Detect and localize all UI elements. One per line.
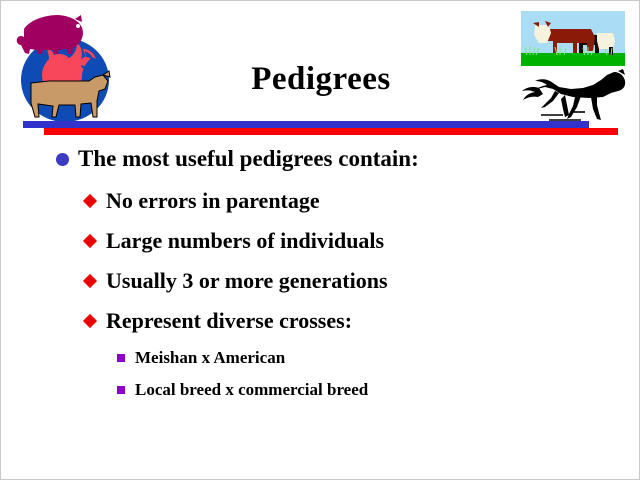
- bullet-item-level1: The most useful pedigrees contain:: [1, 144, 640, 174]
- bullet-text: Usually 3 or more generations: [106, 266, 388, 295]
- bullet-text: Local breed x commercial breed: [135, 378, 368, 402]
- purple-square-bullet-icon: [117, 378, 135, 402]
- bullet-text: The most useful pedigrees contain:: [78, 144, 419, 174]
- bullet-text: Large numbers of individuals: [106, 226, 384, 255]
- red-diamond-bullet-icon: [85, 306, 106, 335]
- blue-circle-bullet-icon: [56, 144, 78, 174]
- purple-square-bullet-icon: [117, 346, 135, 370]
- red-diamond-bullet-icon: [85, 266, 106, 295]
- bullet-item-level2: No errors in parentage: [1, 186, 640, 215]
- divider-bar-red: [44, 128, 618, 135]
- galloping-horse-silhouette: [519, 67, 629, 125]
- bullet-item-level2: Usually 3 or more generations: [1, 266, 640, 295]
- red-diamond-bullet-icon: [85, 226, 106, 255]
- presentation-slide: Pedigrees: [0, 0, 640, 480]
- slide-body: The most useful pedigrees contain: No er…: [1, 144, 640, 410]
- bullet-item-level2: Large numbers of individuals: [1, 226, 640, 255]
- bullet-item-level3: Meishan x American: [1, 346, 640, 370]
- bullet-item-level2: Represent diverse crosses:: [1, 306, 640, 335]
- cattle-pasture-photo: [521, 11, 625, 66]
- bullet-text: No errors in parentage: [106, 186, 320, 215]
- bullet-text: Represent diverse crosses:: [106, 306, 352, 335]
- bullet-item-level3: Local breed x commercial breed: [1, 378, 640, 402]
- red-diamond-bullet-icon: [85, 186, 106, 215]
- divider-bar-blue: [23, 121, 589, 128]
- bullet-text: Meishan x American: [135, 346, 285, 370]
